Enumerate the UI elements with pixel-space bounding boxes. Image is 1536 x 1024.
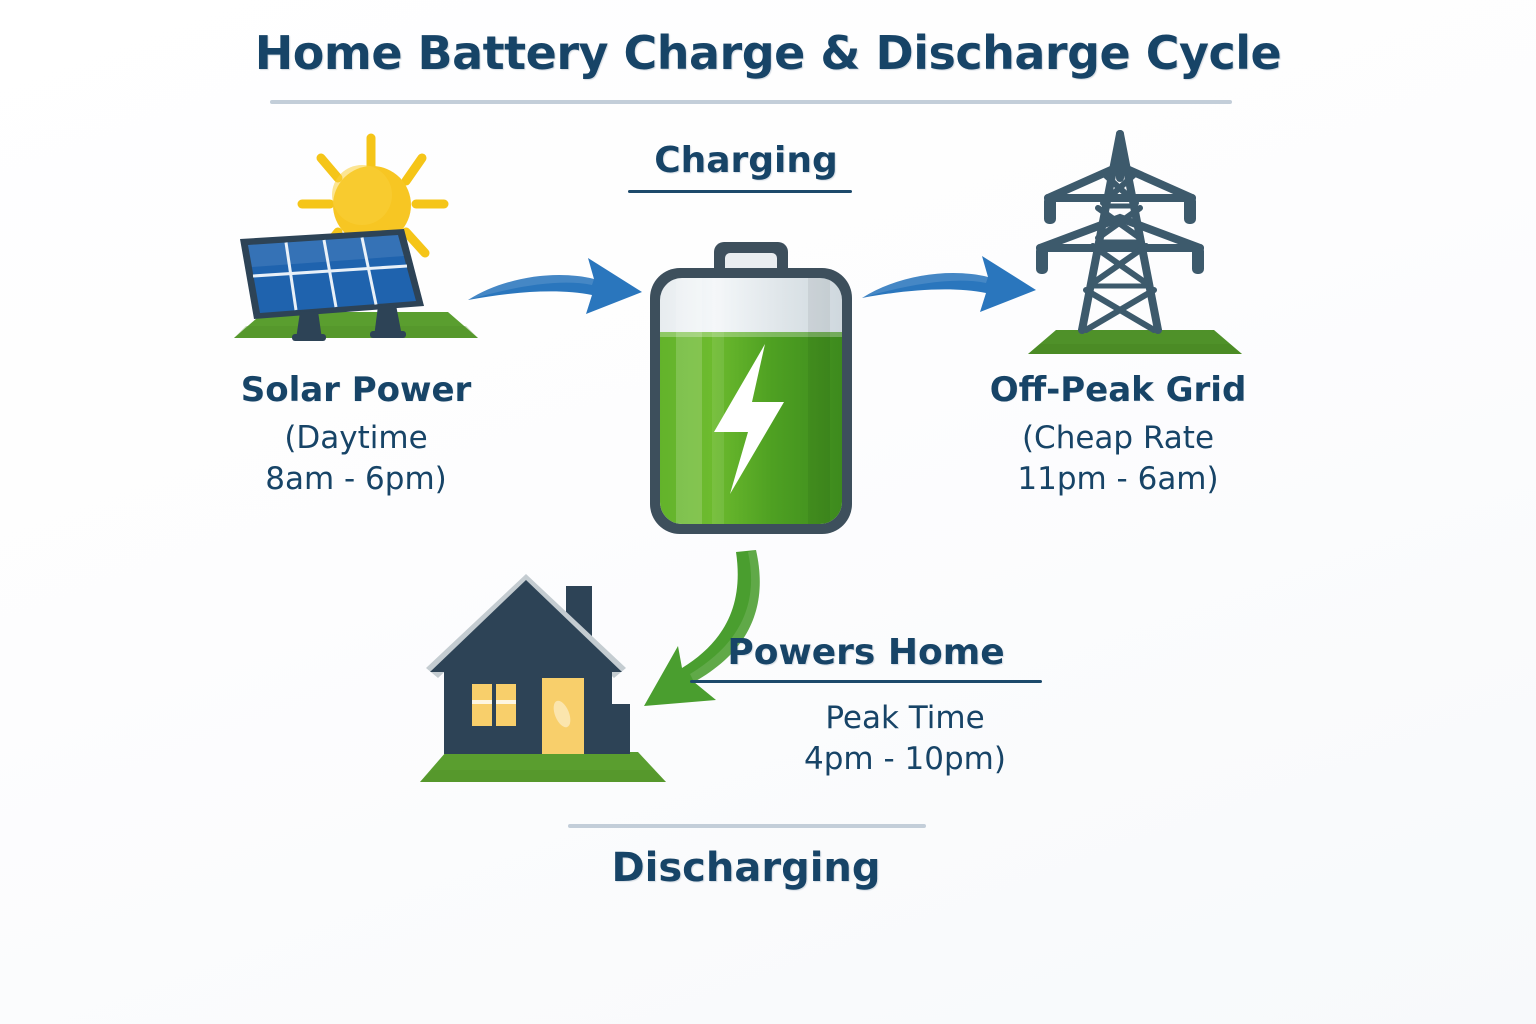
charging-banner: Charging bbox=[628, 140, 864, 193]
transmission-tower-icon bbox=[1018, 118, 1252, 360]
solar-panel-with-sun-icon bbox=[226, 126, 486, 358]
discharging-divider bbox=[568, 824, 926, 828]
blue-curved-arrow-right-icon-2 bbox=[856, 250, 1040, 326]
charging-label: Charging bbox=[628, 140, 864, 181]
powers-home-underline bbox=[690, 680, 1042, 683]
charging-underline bbox=[628, 190, 852, 193]
off-peak-grid-subtitle: (Cheap Rate 11pm - 6am) bbox=[978, 418, 1258, 500]
discharging-label: Discharging bbox=[546, 845, 946, 891]
blue-curved-arrow-right-icon bbox=[462, 252, 646, 328]
off-peak-grid-label-group: Off-Peak Grid (Cheap Rate 11pm - 6am) bbox=[978, 372, 1258, 500]
infographic-canvas: Home Battery Charge & Discharge Cycle bbox=[0, 0, 1536, 1024]
solar-power-title: Solar Power bbox=[216, 372, 496, 409]
battery-charged-icon bbox=[632, 236, 870, 558]
off-peak-grid-title: Off-Peak Grid bbox=[978, 372, 1258, 409]
solar-power-label-group: Solar Power (Daytime 8am - 6pm) bbox=[216, 372, 496, 500]
powers-home-subtitle: Peak Time 4pm - 10pm) bbox=[700, 698, 1110, 780]
powers-home-label: Powers Home bbox=[690, 632, 1042, 673]
solar-power-subtitle: (Daytime 8am - 6pm) bbox=[216, 418, 496, 500]
page-title: Home Battery Charge & Discharge Cycle bbox=[0, 26, 1536, 80]
title-divider bbox=[270, 100, 1232, 104]
powers-home-banner: Powers Home bbox=[690, 632, 1042, 683]
house-icon bbox=[416, 556, 672, 792]
